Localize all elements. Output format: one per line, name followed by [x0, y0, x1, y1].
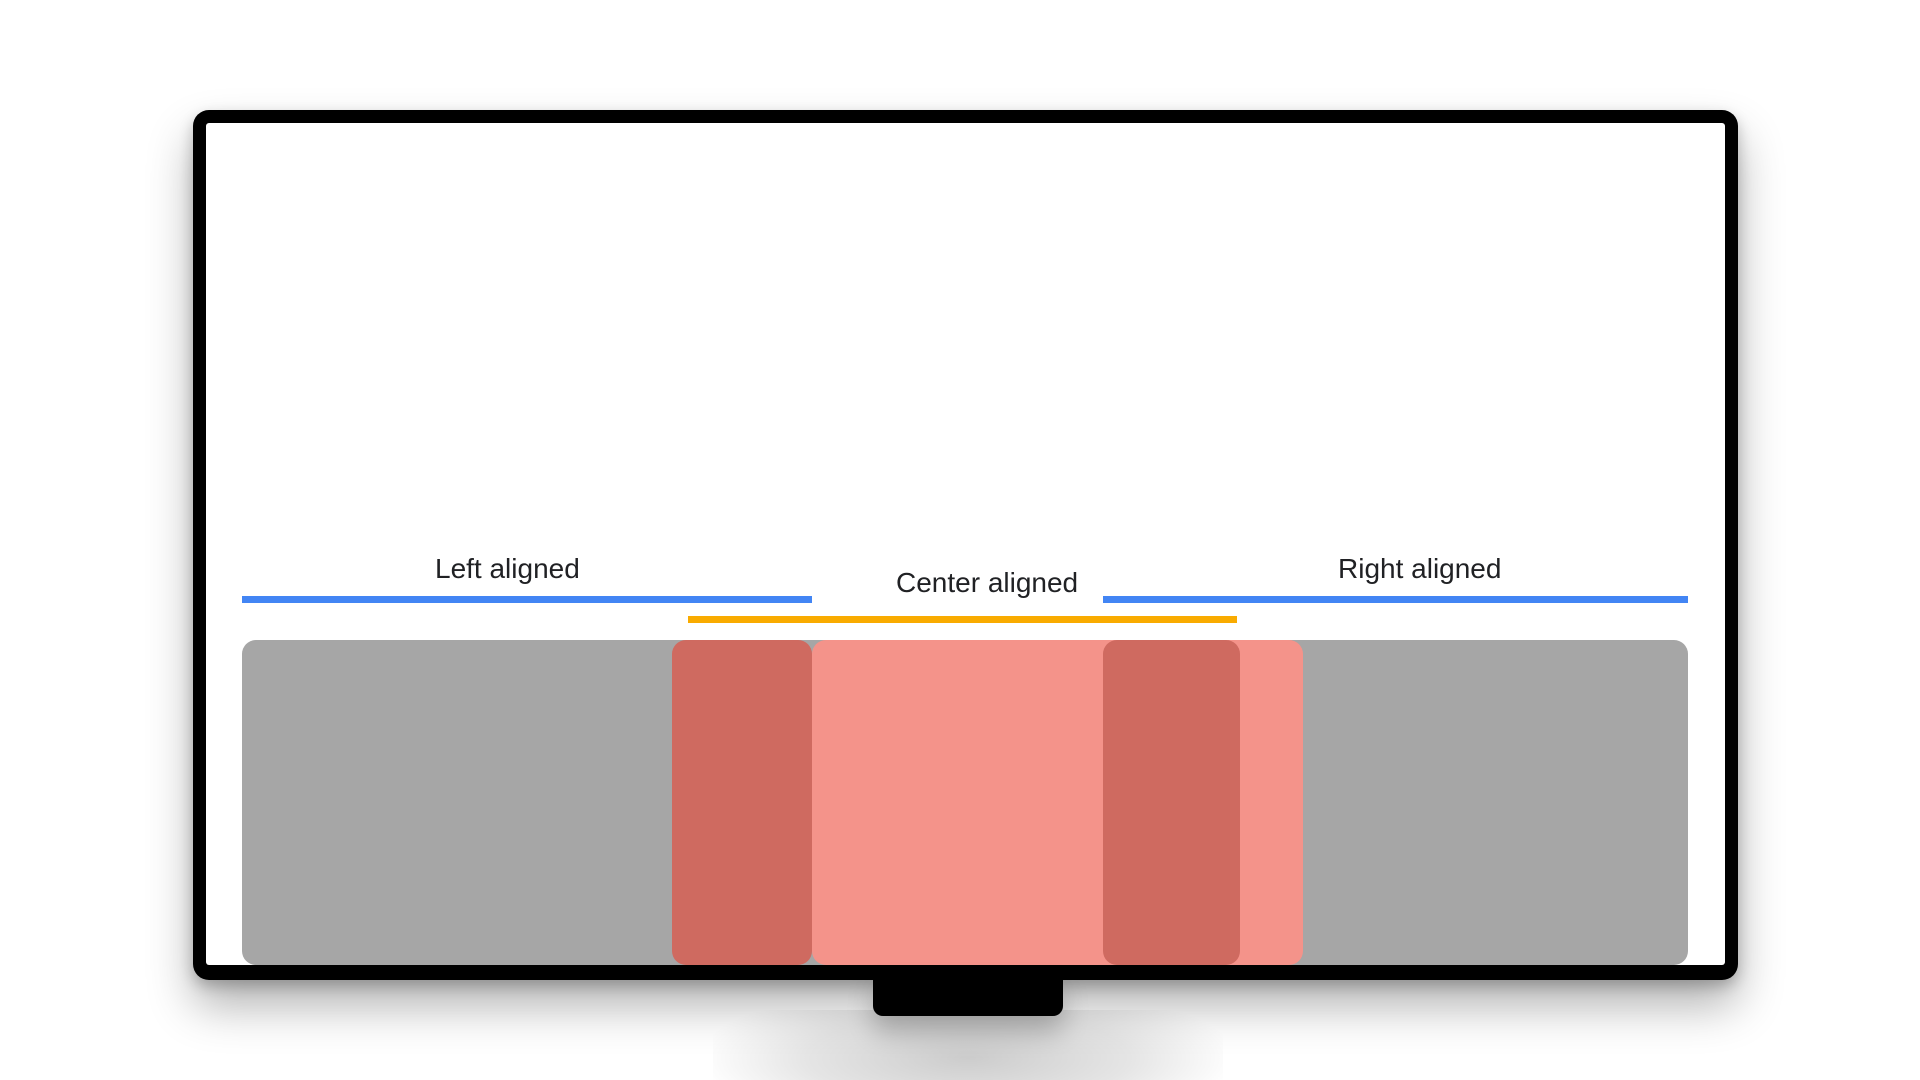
- label-left-aligned: Left aligned: [435, 554, 580, 584]
- tv-device: Left aligned Center aligned Right aligne…: [193, 110, 1738, 980]
- red-left-block-rectangle: [672, 640, 812, 965]
- blue-bar-right: [1103, 596, 1688, 603]
- label-right-aligned: Right aligned: [1338, 554, 1501, 584]
- label-center-aligned: Center aligned: [896, 568, 1078, 598]
- blue-bar-left: [242, 596, 812, 603]
- tv-screen: Left aligned Center aligned Right aligne…: [206, 123, 1725, 965]
- tv-stand: [873, 972, 1063, 1016]
- yellow-bar-center: [688, 616, 1237, 623]
- screenshot-canvas: Left aligned Center aligned Right aligne…: [0, 0, 1920, 1080]
- red-right-block-rectangle: [1103, 640, 1240, 965]
- tv-floor-shadow: [713, 1010, 1223, 1080]
